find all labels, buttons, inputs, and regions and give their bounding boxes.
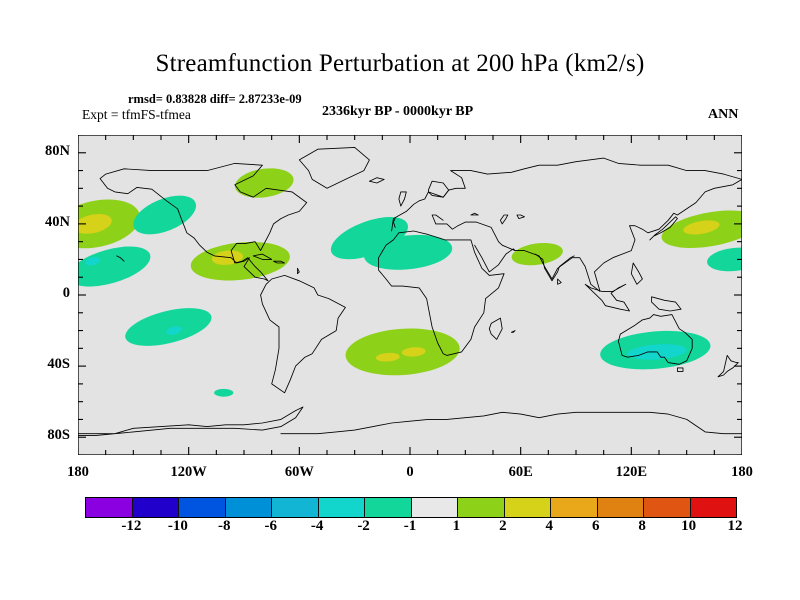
colorbar-cell-4[interactable] (272, 498, 319, 517)
lon-tick-4: 60E (491, 464, 551, 481)
lon-tick-5: 120E (601, 464, 661, 481)
figure-root: Streamfunction Perturbation at 200 hPa (… (0, 0, 800, 600)
period-label: 2336kyr BP - 0000kyr BP (322, 104, 473, 120)
colorbar-tick-12: 12 (705, 518, 765, 535)
colorbar[interactable] (85, 497, 737, 518)
colorbar-cell-12[interactable] (644, 498, 691, 517)
map-background (78, 135, 742, 455)
lon-tick-1: 120W (159, 464, 219, 481)
colorbar-cell-11[interactable] (598, 498, 645, 517)
southeast-pacific-small-level1 (214, 389, 233, 397)
rmsd-stats-label: rmsd= 0.83828 diff= 2.87233e-09 (128, 92, 302, 107)
season-label: ANN (708, 107, 738, 123)
lon-tick-3: 0 (380, 464, 440, 481)
colorbar-cell-7[interactable] (412, 498, 459, 517)
colorbar-cell-5[interactable] (319, 498, 366, 517)
colorbar-cell-13[interactable] (691, 498, 737, 517)
lon-tick-6: 180 (712, 464, 772, 481)
lat-tick-40N: 40N (24, 214, 70, 231)
experiment-label: Expt = tfmFS-tfmea (82, 107, 191, 123)
lat-tick-80S: 80S (24, 427, 70, 444)
lat-tick-40S: 40S (24, 356, 70, 373)
map-plot-area (78, 135, 742, 455)
colorbar-cell-10[interactable] (551, 498, 598, 517)
colorbar-cell-6[interactable] (365, 498, 412, 517)
colorbar-cell-8[interactable] (458, 498, 505, 517)
colorbar-cell-1[interactable] (133, 498, 180, 517)
map-canvas (78, 135, 742, 455)
lon-tick-0: 180 (48, 464, 108, 481)
lat-tick-0: 0 (24, 285, 70, 302)
colorbar-cell-3[interactable] (226, 498, 273, 517)
lat-tick-80N: 80N (24, 143, 70, 160)
colorbar-cell-2[interactable] (179, 498, 226, 517)
colorbar-cell-9[interactable] (505, 498, 552, 517)
colorbar-cell-0[interactable] (86, 498, 133, 517)
page-title: Streamfunction Perturbation at 200 hPa (… (0, 50, 800, 78)
lon-tick-2: 60W (269, 464, 329, 481)
